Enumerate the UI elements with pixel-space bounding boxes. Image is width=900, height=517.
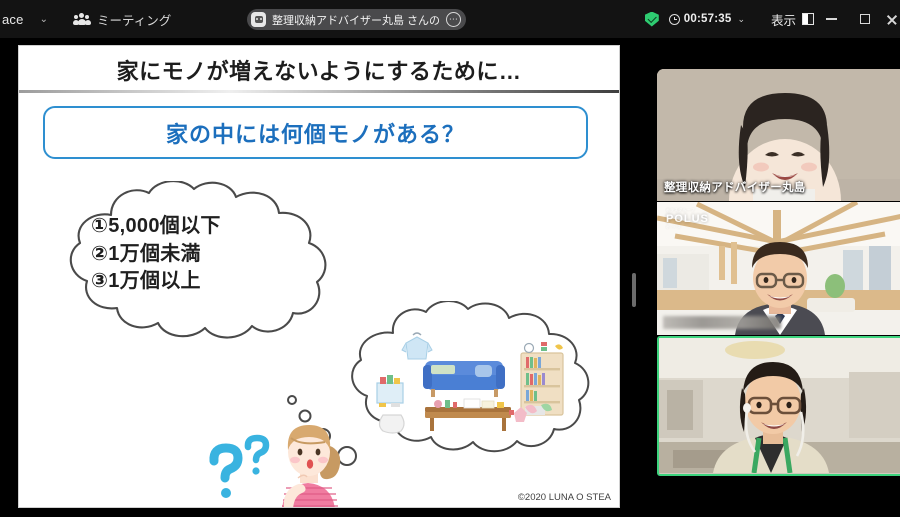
- resize-grip-icon: [632, 273, 636, 307]
- question-callout-box: 家の中には何個モノがある？: [43, 106, 588, 159]
- video-tile-3-active-speaker[interactable]: [657, 336, 900, 476]
- video-tile-1[interactable]: 整理収納アドバイザー丸島: [657, 69, 900, 201]
- video-tile-2[interactable]: ポラスグループ POLUS ポラス: [657, 202, 900, 335]
- question-text: 家の中には何個モノがある？: [166, 117, 465, 149]
- slide-title: 家にモノが増えないようにするために…: [19, 54, 619, 86]
- close-icon: [886, 14, 897, 25]
- screen-share-banner[interactable]: 整理収納アドバイザー丸島 さんの ⋯: [247, 9, 466, 30]
- thinking-woman-illustration: [264, 414, 359, 508]
- minimize-button[interactable]: [814, 0, 848, 38]
- meeting-timer[interactable]: 00:57:35 ⌄: [669, 13, 745, 25]
- maximize-button[interactable]: [848, 0, 882, 38]
- blurred-nameplate: [663, 316, 781, 329]
- shared-slide[interactable]: 家にモノが増えないようにするために… 家の中には何個モノがある？ ①5,000個…: [18, 45, 620, 508]
- meeting-window: ace ⌄ ミーティング 整理収納アドバイザー丸島 さんの ⋯ 00:57:35: [0, 0, 900, 517]
- participant-name-label: 整理収納アドバイザー丸島: [664, 179, 806, 195]
- answer-option-1: ①5,000個以下: [91, 213, 221, 241]
- clock-icon: [669, 14, 680, 25]
- topbar-left-group: ace ⌄ ミーティング: [0, 10, 171, 29]
- answer-option-2: ②1万個未満: [91, 241, 221, 269]
- minimize-icon: [826, 18, 837, 20]
- room-objects-illustration: [369, 323, 577, 441]
- title-divider-rule: [19, 90, 620, 93]
- more-options-icon[interactable]: ⋯: [446, 12, 461, 27]
- room-thought-cloud: [341, 301, 603, 461]
- meeting-timer-value: 00:57:35: [684, 13, 732, 25]
- answer-option-3: ③1万個以上: [91, 268, 221, 296]
- answer-options-list: ①5,000個以下 ②1万個未満 ③1万個以上: [91, 213, 221, 296]
- close-button[interactable]: [882, 0, 900, 38]
- meeting-tab[interactable]: ミーティング: [74, 10, 171, 29]
- chevron-down-icon[interactable]: ⌄: [24, 14, 52, 25]
- view-layout-button[interactable]: 表示: [771, 10, 814, 29]
- workspace-name[interactable]: ace: [0, 12, 24, 27]
- top-bar: ace ⌄ ミーティング 整理収納アドバイザー丸島 さんの ⋯ 00:57:35: [0, 0, 900, 38]
- polus-watermark-logo: ポラスグループ POLUS ポラス: [666, 208, 709, 230]
- shield-check-icon[interactable]: [645, 12, 659, 27]
- panel-resize-handle[interactable]: [629, 38, 639, 517]
- chevron-down-icon[interactable]: ⌄: [737, 14, 745, 25]
- video-feed-3: [659, 338, 900, 473]
- participant-video-list: 整理収納アドバイザー丸島: [657, 69, 900, 505]
- meeting-stage: 家にモノが増えないようにするために… 家の中には何個モノがある？ ①5,000個…: [0, 38, 900, 517]
- slide-copyright: ©2020 LUNA O STEA: [518, 492, 611, 503]
- topbar-right-group: 00:57:35 ⌄ 表示: [645, 0, 900, 38]
- people-icon: [74, 13, 90, 25]
- share-banner-text: 整理収納アドバイザー丸島 さんの: [272, 12, 440, 28]
- layout-view-icon: [802, 13, 814, 25]
- meeting-tab-label: ミーティング: [97, 10, 171, 29]
- view-button-label: 表示: [771, 10, 796, 29]
- restore-window-icon: [860, 14, 870, 24]
- screen-share-app-icon: [251, 12, 266, 27]
